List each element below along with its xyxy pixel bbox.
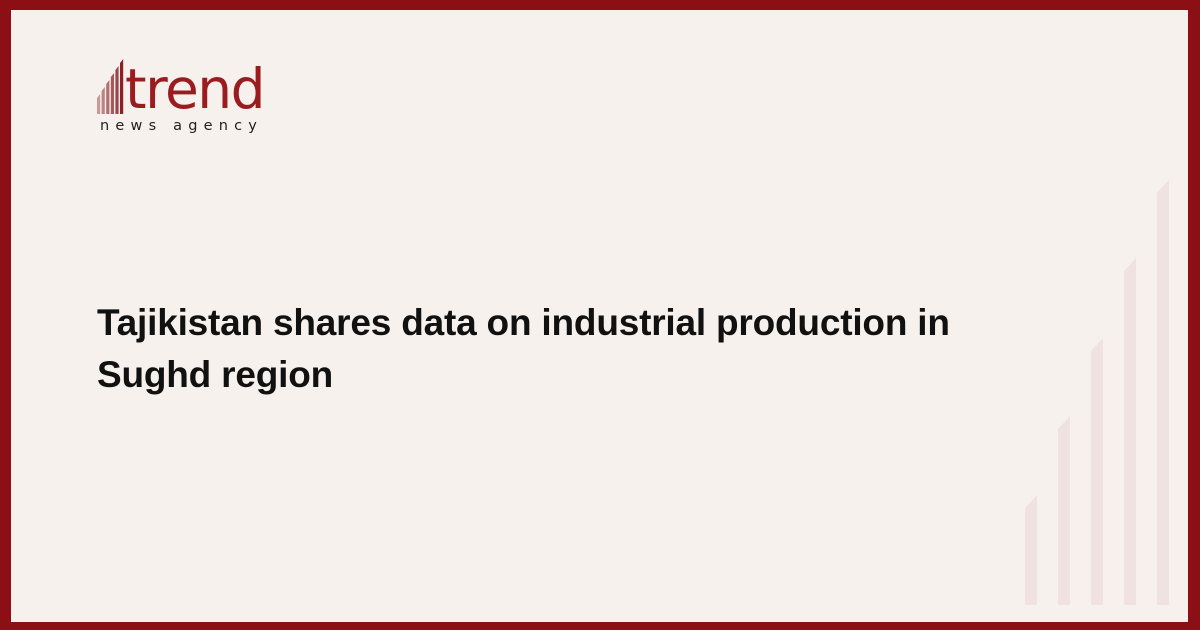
watermark-bar-5 [1157,180,1169,605]
card-canvas: trend news agency Tajikistan shares data… [11,10,1188,622]
ascending-bars-watermark [1025,173,1188,605]
watermark-bar-3 [1091,338,1103,605]
logo-wordmark-row: trend [97,52,357,114]
social-share-card: trend news agency Tajikistan shares data… [0,0,1200,630]
ascending-bars-icon [97,58,125,114]
logo[interactable]: trend news agency [97,52,357,144]
headline: Tajikistan shares data on industrial pro… [97,297,997,401]
watermark-bar-2 [1058,416,1070,605]
logo-wordmark: trend [125,62,264,117]
watermark-bar-4 [1124,258,1136,605]
watermark-bar-1 [1025,495,1037,605]
